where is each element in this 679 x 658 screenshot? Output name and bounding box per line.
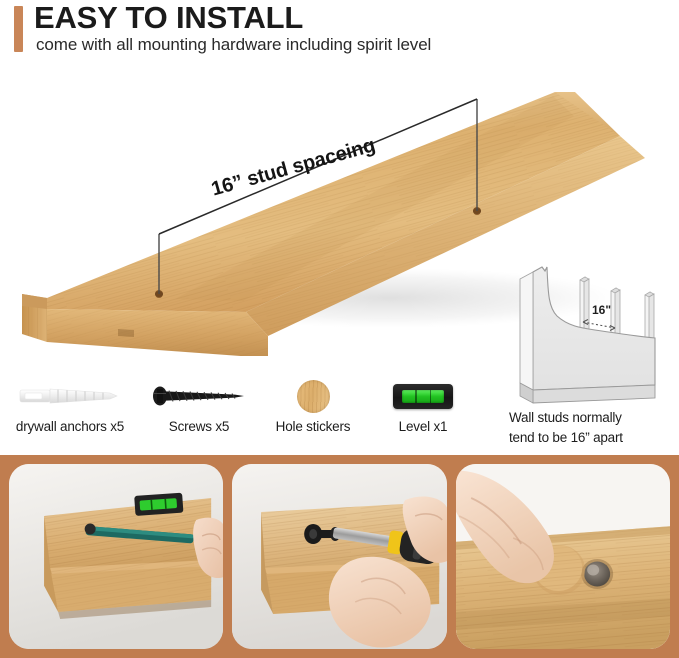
header: EASY TO INSTALL come with all mounting h… xyxy=(0,0,679,72)
screw-icon xyxy=(140,378,258,414)
page-title: EASY TO INSTALL xyxy=(34,1,303,36)
hardware-item-hole-stickers: Hole stickers xyxy=(258,378,368,434)
drywall-face xyxy=(533,267,655,390)
spirit-level xyxy=(134,493,183,516)
hardware-item-level: Level x1 xyxy=(368,378,478,434)
photo-screwdriver xyxy=(232,464,446,649)
hardware-item-screws: Screws x5 xyxy=(140,378,258,434)
photo-strip xyxy=(0,455,679,658)
hardware-label: Level x1 xyxy=(368,419,478,434)
hardware-item-drywall-anchors: drywall anchors x5 xyxy=(6,378,134,434)
stud-measure-label: 16" xyxy=(592,303,611,317)
photo-hole-sticker xyxy=(456,464,670,649)
hardware-label: Screws x5 xyxy=(140,419,258,434)
drywall-anchor-icon xyxy=(6,378,134,414)
screw-hole xyxy=(581,559,613,589)
caption-line-1: Wall studs normally xyxy=(509,408,679,428)
spirit-level-icon xyxy=(368,378,478,414)
page-subtitle: come with all mounting hardware includin… xyxy=(36,35,431,55)
hardware-label: Hole stickers xyxy=(258,419,368,434)
hardware-list: drywall anchors x5 Screws x5 xyxy=(0,372,500,444)
wall-studs-caption: Wall studs normally tend to be 16” apart xyxy=(509,408,679,447)
hole-sticker-icon xyxy=(258,378,368,414)
accent-bar xyxy=(14,6,23,52)
caption-line-2: tend to be 16” apart xyxy=(509,428,679,448)
photo-level-and-pencil xyxy=(9,464,223,649)
hardware-label: drywall anchors x5 xyxy=(6,419,134,434)
